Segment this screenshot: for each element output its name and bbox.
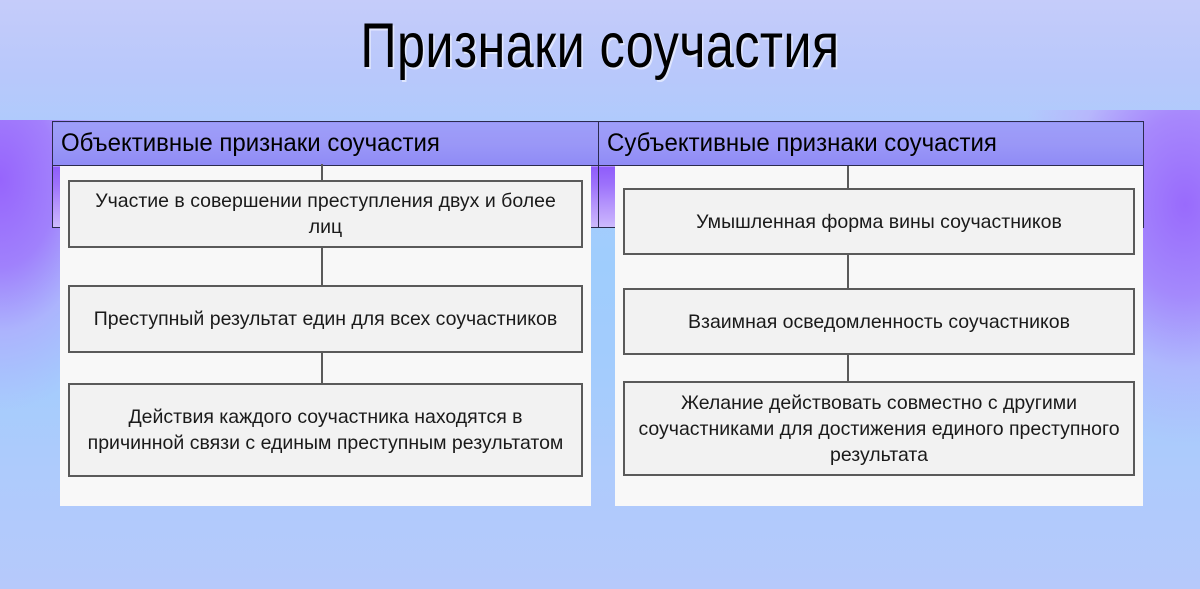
connector-objective-box-1-to-box-2 xyxy=(321,247,323,287)
objective-flow-box-3: Действия каждого соучастника находятся в… xyxy=(68,383,583,477)
connector-subjective-box-2-to-box-3 xyxy=(847,354,849,383)
connector-objective-box-2-to-box-3 xyxy=(321,352,323,385)
column-header-subjective: Субъективные признаки соучастия xyxy=(598,122,1144,166)
subjective-flow-box-3: Желание действовать совместно с другими … xyxy=(623,381,1135,476)
connector-subjective-header-to-box-1 xyxy=(847,166,849,190)
slide-canvas: Признаки соучастия Объективные признаки … xyxy=(0,0,1200,589)
objective-flow-box-3-text: Действия каждого соучастника находятся в… xyxy=(78,404,573,456)
subjective-flow-box-1: Умышленная форма вины соучастников xyxy=(623,188,1135,255)
subjective-flow-box-3-text: Желание действовать совместно с другими … xyxy=(633,390,1125,468)
column-header-subjective-label: Субъективные признаки соучастия xyxy=(607,122,997,165)
subjective-flow-box-2-text: Взаимная осведомленность соучастников xyxy=(633,309,1125,335)
objective-flow-box-1: Участие в совершении преступления двух и… xyxy=(68,180,583,248)
page-title: Признаки соучастия xyxy=(120,3,1080,89)
column-header-objective: Объективные признаки соучастия xyxy=(53,122,599,166)
objective-flow-box-2: Преступный результат един для всех соуча… xyxy=(68,285,583,353)
subjective-flow-box-1-text: Умышленная форма вины соучастников xyxy=(633,209,1125,235)
column-header-objective-label: Объективные признаки соучастия xyxy=(61,122,440,165)
objective-flow-box-1-text: Участие в совершении преступления двух и… xyxy=(78,188,573,240)
table-header-row: Объективные признаки соучастия Субъектив… xyxy=(53,122,1144,166)
connector-subjective-box-1-to-box-2 xyxy=(847,254,849,290)
subjective-flow-box-2: Взаимная осведомленность соучастников xyxy=(623,288,1135,355)
objective-flow-box-2-text: Преступный результат един для всех соуча… xyxy=(78,306,573,332)
